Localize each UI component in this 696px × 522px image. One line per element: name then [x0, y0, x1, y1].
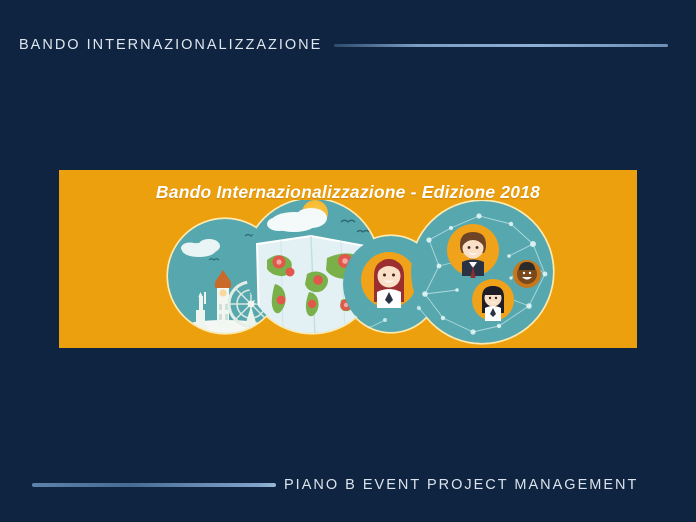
banner-illustration: [59, 200, 637, 348]
avatar: [472, 279, 514, 321]
slide-footer: PIANO B EVENT PROJECT MANAGEMENT: [0, 472, 696, 498]
slide-header: BANDO INTERNAZIONALIZZAZIONE: [0, 30, 696, 60]
footer-divider-line: [32, 483, 276, 487]
page-title: BANDO INTERNAZIONALIZZAZIONE: [19, 37, 322, 53]
network-circle: [411, 201, 553, 343]
avatar: [361, 252, 417, 308]
header-divider-line: [334, 44, 668, 47]
avatar: [513, 260, 541, 288]
banner-image: Bando Internazionalizzazione - Edizione …: [59, 170, 637, 348]
footer-title: PIANO B EVENT PROJECT MANAGEMENT: [284, 477, 638, 493]
banner-inner: Bando Internazionalizzazione - Edizione …: [59, 170, 637, 348]
illustration-svg: [59, 200, 637, 348]
